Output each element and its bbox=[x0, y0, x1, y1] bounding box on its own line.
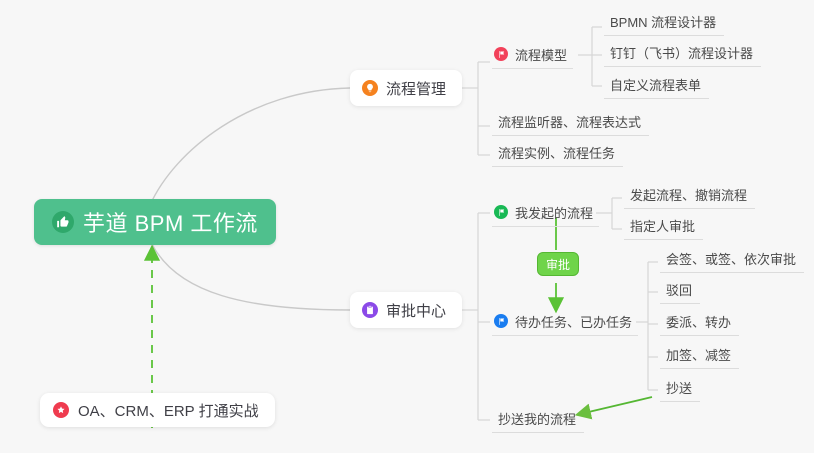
flag-icon bbox=[494, 205, 508, 219]
leaf-custom-form[interactable]: 自定义流程表单 bbox=[604, 75, 709, 99]
leaf-label: 发起流程、撤销流程 bbox=[630, 185, 747, 204]
root-label: 芋道 BPM 工作流 bbox=[83, 206, 258, 238]
leaf-label: 钉钉（飞书）流程设计器 bbox=[610, 43, 753, 62]
leaf-label: 指定人审批 bbox=[630, 216, 695, 235]
note-integration-practice[interactable]: OA、CRM、ERP 打通实战 bbox=[40, 393, 275, 427]
lightbulb-icon bbox=[362, 80, 378, 96]
leaf-label: 驳回 bbox=[666, 280, 692, 299]
approve-pill-label: 审批 bbox=[546, 256, 570, 273]
leaf-dingtalk-designer[interactable]: 钉钉（飞书）流程设计器 bbox=[604, 43, 761, 67]
clipboard-icon bbox=[362, 302, 378, 318]
leaf-label: 会签、或签、依次审批 bbox=[666, 249, 796, 268]
leaf-label: 流程监听器、流程表达式 bbox=[498, 112, 641, 131]
leaf-assignee-approval[interactable]: 指定人审批 bbox=[624, 216, 703, 240]
node-label: 待办任务、已办任务 bbox=[515, 312, 632, 331]
leaf-reject[interactable]: 驳回 bbox=[660, 280, 700, 304]
node-my-initiated-flows[interactable]: 我发起的流程 bbox=[492, 202, 599, 227]
branch-approval-center[interactable]: 审批中心 bbox=[350, 292, 462, 328]
thumbs-up-icon bbox=[52, 211, 74, 233]
approve-pill: 审批 bbox=[537, 252, 579, 276]
leaf-label: 委派、转办 bbox=[666, 312, 731, 331]
leaf-countersign[interactable]: 会签、或签、依次审批 bbox=[660, 249, 804, 273]
arrow-copy-to-copyflow bbox=[580, 397, 652, 414]
node-process-model[interactable]: 流程模型 bbox=[492, 44, 573, 69]
leaf-bpmn-designer[interactable]: BPMN 流程设计器 bbox=[604, 12, 724, 36]
leaf-add-remove-sign[interactable]: 加签、减签 bbox=[660, 345, 739, 369]
branch-label: 审批中心 bbox=[386, 300, 446, 321]
link-root-to-process-management bbox=[150, 88, 350, 205]
leaf-label: BPMN 流程设计器 bbox=[610, 12, 716, 31]
flag-icon bbox=[494, 314, 508, 328]
leaf-cc-to-me-flows[interactable]: 抄送我的流程 bbox=[492, 409, 584, 433]
branch-label: 流程管理 bbox=[386, 78, 446, 99]
flag-icon bbox=[494, 47, 508, 61]
root-node[interactable]: 芋道 BPM 工作流 bbox=[34, 199, 276, 245]
note-label: OA、CRM、ERP 打通实战 bbox=[78, 400, 259, 421]
leaf-label: 自定义流程表单 bbox=[610, 75, 701, 94]
leaf-delegate-transfer[interactable]: 委派、转办 bbox=[660, 312, 739, 336]
mindmap-canvas: 芋道 BPM 工作流 流程管理 流程模型 BPMN 流程设计器 钉钉（飞书）流程… bbox=[0, 0, 814, 453]
leaf-label: 流程实例、流程任务 bbox=[498, 143, 615, 162]
leaf-label: 抄送 bbox=[666, 378, 692, 397]
leaf-label: 加签、减签 bbox=[666, 345, 731, 364]
star-icon bbox=[53, 402, 69, 418]
leaf-start-cancel-flow[interactable]: 发起流程、撤销流程 bbox=[624, 185, 755, 209]
link-root-to-approval-center bbox=[150, 240, 350, 310]
leaf-cc[interactable]: 抄送 bbox=[660, 378, 700, 402]
branch-process-management[interactable]: 流程管理 bbox=[350, 70, 462, 106]
node-todo-done-tasks[interactable]: 待办任务、已办任务 bbox=[492, 311, 638, 336]
leaf-instance-task[interactable]: 流程实例、流程任务 bbox=[492, 143, 623, 167]
leaf-listener-expression[interactable]: 流程监听器、流程表达式 bbox=[492, 112, 649, 136]
node-label: 流程模型 bbox=[515, 45, 567, 64]
node-label: 我发起的流程 bbox=[515, 203, 593, 222]
leaf-label: 抄送我的流程 bbox=[498, 409, 576, 428]
